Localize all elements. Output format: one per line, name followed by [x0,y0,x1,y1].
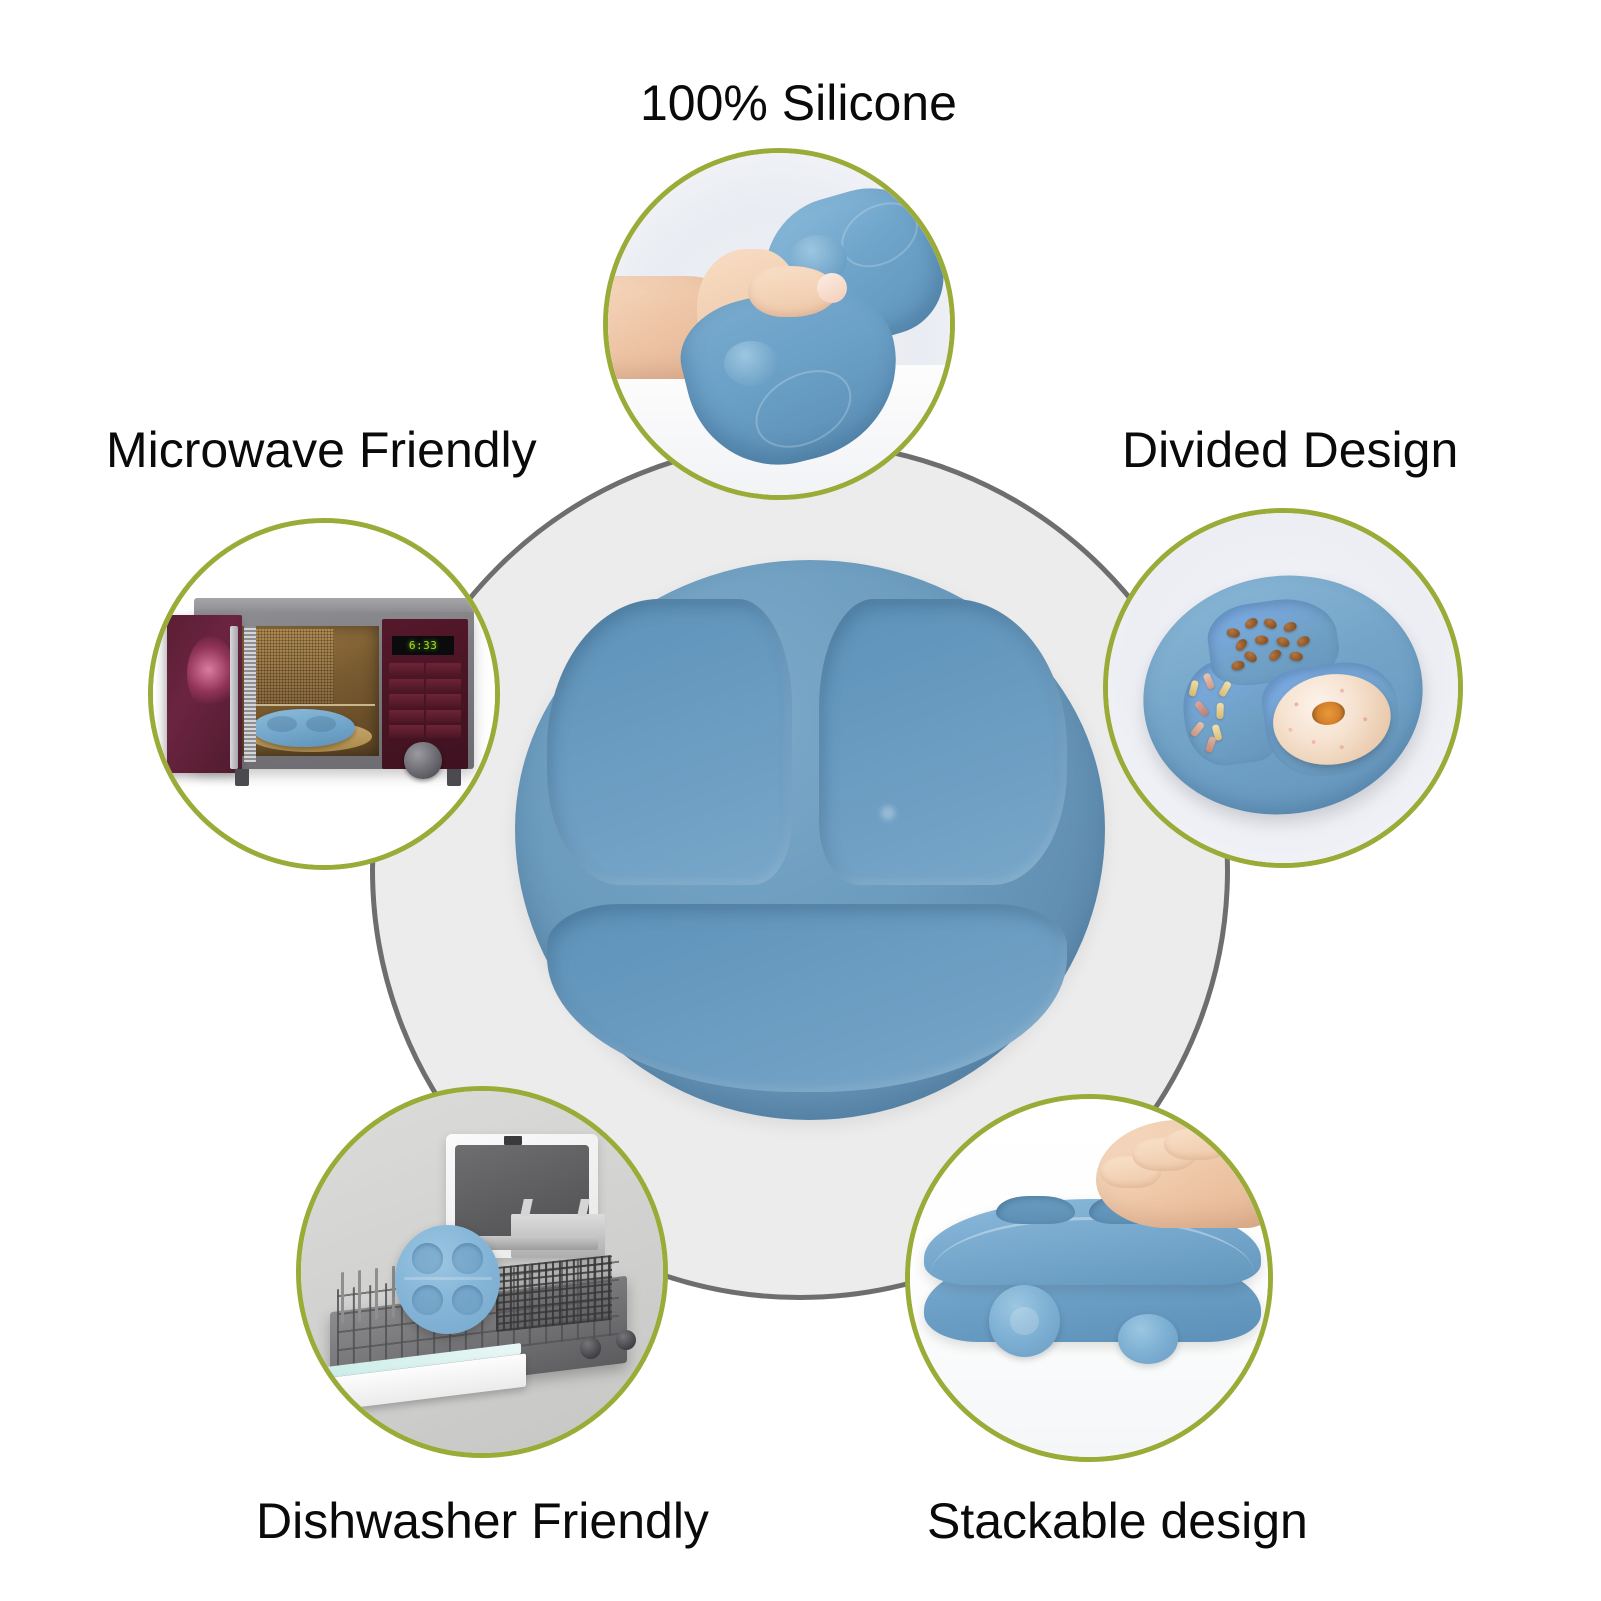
feature-circle-divided [1103,508,1463,868]
hand-finger [1164,1128,1228,1160]
door-vent [244,626,256,763]
photo-stackable [910,1099,1268,1457]
feature-circle-silicone [603,148,955,500]
control-buttons[interactable] [389,663,461,738]
feature-circle-stackable [905,1094,1273,1462]
photo-dishwasher [301,1091,663,1453]
feature-label-silicone: 100% Silicone [640,78,957,128]
suction-cup [1118,1314,1179,1364]
suction-cup [989,1285,1061,1357]
plate-body [515,560,1105,1120]
plate-in-rack [395,1225,500,1334]
display-time: 6:33 [409,639,438,652]
suction-cup [412,1243,443,1273]
rack-cage [496,1255,612,1332]
microwave-grill-mesh [249,629,335,704]
suction-cup [452,1285,483,1315]
photo-divided-with-food [1108,513,1458,863]
plate-compartment-upper-right [819,599,1067,885]
rack-wheel [616,1330,636,1350]
suction-cup [412,1285,443,1315]
plate-compartment [996,1196,1075,1225]
infographic-canvas: 100% Silicone 6:33 Mi [0,0,1601,1601]
feature-circle-microwave: 6:33 [148,518,500,870]
plate-in-microwave [252,709,355,747]
rack-wheel [580,1337,602,1359]
feature-label-dishwasher: Dishwasher Friendly [256,1496,709,1546]
suction-cup [724,341,779,385]
feature-label-microwave: Microwave Friendly [106,425,537,475]
plate-compartment-lower [547,904,1066,1092]
door-latch [504,1136,522,1145]
microwave-rack [245,704,375,706]
suction-cup [452,1243,483,1273]
feature-circle-dishwasher [296,1086,668,1458]
door-handle[interactable] [230,626,239,770]
feature-label-stackable: Stackable design [927,1496,1308,1546]
photo-microwave: 6:33 [153,523,495,865]
product-plate [515,560,1105,1120]
photo-silicone-squeeze [608,153,950,495]
plate-compartment-upper-left [547,599,792,885]
food-pasta [1184,666,1262,755]
control-knob[interactable] [404,742,442,780]
microwave-display: 6:33 [392,636,454,655]
door-floral-pattern [187,636,235,711]
feature-label-divided: Divided Design [1122,425,1458,475]
